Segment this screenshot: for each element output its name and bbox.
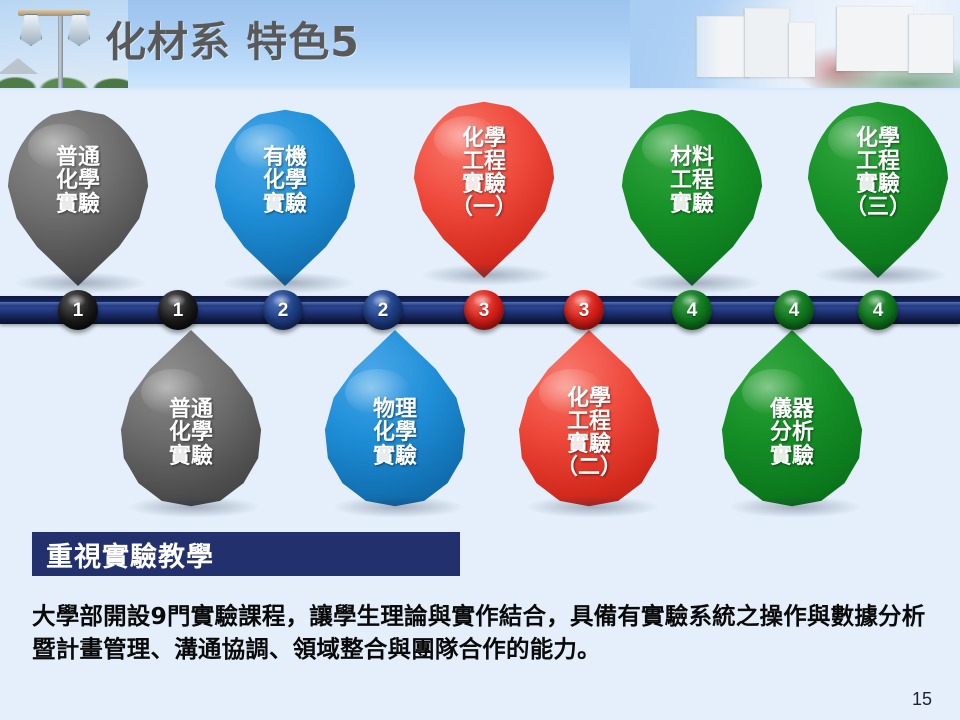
timeline-node-3[interactable]: 2 [263,290,303,330]
pin-label: 材料工程實驗 [670,146,714,215]
slide-header: 化材系 特色5 [0,0,960,88]
timeline-node-label: 4 [789,301,800,320]
pin-bulb: 化學工程實驗（一） [411,100,557,278]
pin-chemical-engineering-lab-1[interactable]: 化學工程實驗（一） [411,100,557,278]
pin-label: 普通化學實驗 [56,146,100,215]
pin-label: 化學工程實驗（三） [845,127,911,219]
pin-shadow [814,264,948,286]
section-banner-label: 重視實驗教學 [46,535,214,574]
pin-shadow [420,264,554,286]
pin-label: 有機化學實驗 [263,146,307,215]
timeline-node-4[interactable]: 2 [363,290,403,330]
pin-general-chemistry-lab-2[interactable]: 普通化學實驗 [118,330,264,508]
pin-shadow [525,496,659,518]
timeline-node-6[interactable]: 3 [564,290,604,330]
section-banner: 重視實驗教學 [32,532,460,576]
timeline-node-9[interactable]: 4 [858,290,898,330]
body-paragraph: 大學部開設9門實驗課程，讓學生理論與實作結合，具備有實驗系統之操作與數據分析暨計… [32,600,932,667]
pin-label: 化學工程實驗（二） [556,387,622,479]
pin-shadow [331,496,465,518]
timeline-node-8[interactable]: 4 [774,290,814,330]
header-photo-fade [630,0,720,88]
timeline-node-label: 1 [73,301,84,320]
pin-shadow [127,496,261,518]
page-number: 15 [912,689,932,710]
timeline-node-label: 2 [278,301,289,320]
timeline-node-label: 2 [378,301,389,320]
timeline-node-label: 4 [873,301,884,320]
timeline-node-5[interactable]: 3 [464,290,504,330]
timeline-node-label: 3 [579,301,590,320]
pin-instrumental-analysis-lab[interactable]: 儀器分析實驗 [719,330,865,508]
timeline-node-label: 1 [173,301,184,320]
pin-label: 化學工程實驗（一） [451,127,517,219]
timeline-node-2[interactable]: 1 [158,290,198,330]
pin-bulb: 普通化學實驗 [5,108,151,286]
timeline-node-label: 4 [687,301,698,320]
lamp-pole [58,16,63,88]
pin-bulb: 材料工程實驗 [619,108,765,286]
timeline-node-1[interactable]: 1 [58,290,98,330]
slide-canvas: 化材系 特色5 普通化學實驗有機化學實驗化學工程實驗（一）材料工程實驗化學工程實… [0,0,960,720]
header-divider [0,88,960,92]
pin-bulb: 儀器分析實驗 [719,330,865,508]
pin-physical-chemistry-lab[interactable]: 物理化學實驗 [322,330,468,508]
pin-bulb: 化學工程實驗（三） [805,100,951,278]
pin-shadow [728,496,862,518]
page-title: 化材系 特色5 [105,8,360,68]
pin-general-chemistry-lab[interactable]: 普通化學實驗 [5,108,151,286]
pin-chemical-engineering-lab-2[interactable]: 化學工程實驗（二） [516,330,662,508]
pin-organic-chemistry-lab[interactable]: 有機化學實驗 [212,108,358,286]
timeline-node-label: 3 [479,301,490,320]
pin-chemical-engineering-lab-3[interactable]: 化學工程實驗（三） [805,100,951,278]
pin-label: 普通化學實驗 [169,398,213,467]
pin-bulb: 普通化學實驗 [118,330,264,508]
pin-materials-engineering-lab[interactable]: 材料工程實驗 [619,108,765,286]
pin-label: 物理化學實驗 [373,398,417,467]
timeline-node-7[interactable]: 4 [672,290,712,330]
pin-label: 儀器分析實驗 [770,398,814,467]
pin-bulb: 有機化學實驗 [212,108,358,286]
pin-bulb: 化學工程實驗（二） [516,330,662,508]
pin-bulb: 物理化學實驗 [322,330,468,508]
